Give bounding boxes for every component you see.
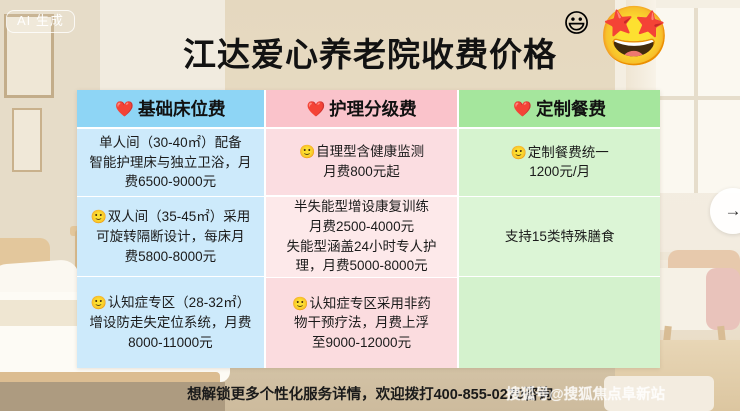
poster-canvas: AI 生成 江达爱心养老院收费价格 😃 🤩 ❤️ 基础床位费 单人间（30-40… <box>0 0 740 411</box>
table-column-care-fee: ❤️ 护理分级费 🙂自理型含健康监测 月费800元起 半失能型增设康复训练 月费… <box>266 90 458 368</box>
smile-icon: 🙂 <box>91 295 107 310</box>
heart-icon: ❤️ <box>115 100 134 118</box>
pricing-table: ❤️ 基础床位费 单人间（30-40㎡）配备 智能护理床与独立卫浴，月 费650… <box>77 90 660 368</box>
grinning-face-icon: 😃 <box>563 10 590 36</box>
table-cell: 🙂认知症专区（28-32㎡） 增设防走失定位系统，月费 8000-11000元 <box>77 277 264 368</box>
smile-icon: 🙂 <box>292 296 308 311</box>
table-cell: 单人间（30-40㎡）配备 智能护理床与独立卫浴，月 费6500-9000元 <box>77 129 264 196</box>
table-cell: 🙂定制餐费统一 1200元/月 <box>459 129 660 196</box>
heart-icon: ❤️ <box>306 100 325 118</box>
smile-icon: 🙂 <box>91 209 107 224</box>
table-column-meal-fee: ❤️ 定制餐费 🙂定制餐费统一 1200元/月 支持15类特殊膳食 <box>459 90 660 368</box>
table-cell <box>459 277 660 368</box>
column-header-care-fee: ❤️ 护理分级费 <box>266 90 458 127</box>
watermark: 搜狐号@搜狐焦点阜新站 <box>506 383 665 404</box>
heart-icon: ❤️ <box>513 100 532 118</box>
table-cell: 🙂双人间（35-45㎡）采用 可旋转隔断设计，每床月 费5800-8000元 <box>77 197 264 276</box>
smile-icon: 🙂 <box>511 145 527 160</box>
table-column-bed-fee: ❤️ 基础床位费 单人间（30-40㎡）配备 智能护理床与独立卫浴，月 费650… <box>77 90 264 368</box>
column-header-meal-fee: ❤️ 定制餐费 <box>459 90 660 127</box>
column-header-bed-fee: ❤️ 基础床位费 <box>77 90 264 127</box>
table-cell: 支持15类特殊膳食 <box>459 197 660 276</box>
table-cell: 半失能型增设康复训练 月费2500-4000元 失能型涵盖24小时专人护 理，月… <box>266 197 458 277</box>
face-with-victory-hands-icon: 🤩 <box>598 8 670 66</box>
table-cell: 🙂认知症专区采用非药 物干预疗法，月费上浮 至9000-12000元 <box>266 278 458 368</box>
table-cell: 🙂自理型含健康监测 月费800元起 <box>266 129 458 196</box>
smile-icon: 🙂 <box>299 144 315 159</box>
wall-frame-small-icon <box>12 108 42 172</box>
